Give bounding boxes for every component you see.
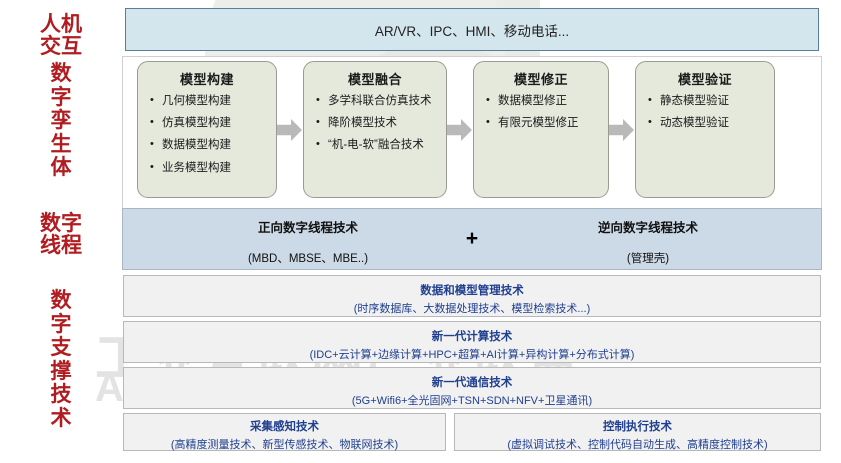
reverse-digital-thread: 逆向数字线程技术 (管理壳) xyxy=(493,217,803,266)
flow-arrow-icon xyxy=(447,118,472,142)
support-row-detail: (虚拟调试技术、控制代码自动生成、高精度控制技术) xyxy=(455,436,820,452)
flow-arrow-icon xyxy=(609,118,634,142)
thread-detail: (MBD、MBSE、MBE..) xyxy=(153,250,463,266)
model-box-list-item: 仿真模型构建 xyxy=(144,117,270,130)
banner-label: AR/VR、IPC、HMI、移动电话... xyxy=(375,20,569,40)
support-row-next-gen-computing: 新一代计算技术 (IDC+云计算+边缘计算+HPC+超算+AI计算+异构计算+分… xyxy=(123,321,821,363)
model-box-list: 数据模型修正有限元模型修正 xyxy=(480,95,602,130)
support-row-next-gen-communication: 新一代通信技术 (5G+Wifi6+全光固网+TSN+SDN+NFV+卫星通讯) xyxy=(123,367,821,409)
support-row-title: 采集感知技术 xyxy=(124,418,445,434)
support-row-title: 新一代通信技术 xyxy=(124,374,820,390)
support-row-detail: (IDC+云计算+边缘计算+HPC+超算+AI计算+异构计算+分布式计算) xyxy=(124,346,820,362)
diagram-content: AR/VR、IPC、HMI、移动电话... 模型构建 几何模型构建仿真模型构建数… xyxy=(122,0,822,463)
support-row-title: 数据和模型管理技术 xyxy=(124,282,820,298)
model-box-list-item: 多学科联合仿真技术 xyxy=(310,95,440,108)
thread-detail: (管理壳) xyxy=(493,250,803,266)
model-box-list-item: 数据模型修正 xyxy=(480,95,602,108)
support-row-detail: (5G+Wifi6+全光固网+TSN+SDN+NFV+卫星通讯) xyxy=(124,392,820,408)
model-box-construction: 模型构建 几何模型构建仿真模型构建数据模型构建业务模型构建 xyxy=(137,61,277,198)
model-box-list-item: 几何模型构建 xyxy=(144,95,270,108)
model-box-list: 静态模型验证动态模型验证 xyxy=(642,95,768,130)
model-box-correction: 模型修正 数据模型修正有限元模型修正 xyxy=(473,61,609,198)
flow-arrow-icon xyxy=(277,118,302,142)
model-box-title: 模型构建 xyxy=(144,69,270,88)
model-box-list-item: 业务模型构建 xyxy=(144,162,270,175)
support-row-title: 控制执行技术 xyxy=(455,418,820,434)
section-label-digital-twin: 数字孪生体 xyxy=(41,62,81,180)
digital-twin-row: 模型构建 几何模型构建仿真模型构建数据模型构建业务模型构建 模型融合 多学科联合… xyxy=(129,61,817,206)
model-box-list-item: 有限元模型修正 xyxy=(480,117,602,130)
section-label-human-machine-interaction: 人机交互 xyxy=(18,14,104,59)
support-row-sensing-acquisition: 采集感知技术 (高精度测量技术、新型传感技术、物联网技术) xyxy=(123,413,446,451)
section-label-digital-thread: 数字线程 xyxy=(18,213,104,258)
model-box-title: 模型融合 xyxy=(310,69,440,88)
model-box-title: 模型验证 xyxy=(642,69,768,88)
section-label-digital-support-tech: 数字支撑技术 xyxy=(41,289,81,430)
support-row-detail: (高精度测量技术、新型传感技术、物联网技术) xyxy=(124,436,445,452)
model-box-fusion: 模型融合 多学科联合仿真技术降阶模型技术“机-电-软”融合技术 xyxy=(303,61,447,198)
support-row-data-model-management: 数据和模型管理技术 (时序数据库、大数据处理技术、模型检索技术...) xyxy=(123,275,821,317)
support-row-title: 新一代计算技术 xyxy=(124,328,820,344)
model-box-list: 多学科联合仿真技术降阶模型技术“机-电-软”融合技术 xyxy=(310,95,440,153)
left-label-column: 人机交互 数字孪生体 数字线程 数字支撑技术 xyxy=(0,0,122,463)
model-box-list-item: “机-电-软”融合技术 xyxy=(310,139,440,152)
model-box-list: 几何模型构建仿真模型构建数据模型构建业务模型构建 xyxy=(144,95,270,175)
model-box-list-item: 降阶模型技术 xyxy=(310,117,440,130)
human-machine-interaction-banner: AR/VR、IPC、HMI、移动电话... xyxy=(125,8,819,51)
model-box-validation: 模型验证 静态模型验证动态模型验证 xyxy=(635,61,775,198)
support-row-detail: (时序数据库、大数据处理技术、模型检索技术...) xyxy=(124,300,820,316)
model-box-list-item: 动态模型验证 xyxy=(642,117,768,130)
model-box-list-item: 数据模型构建 xyxy=(144,139,270,152)
model-box-title: 模型修正 xyxy=(480,69,602,88)
diagram-root: 工业互联网产业联盟 Alliance of Industrial Interne… xyxy=(0,0,841,463)
digital-twin-container: 模型构建 几何模型构建仿真模型构建数据模型构建业务模型构建 模型融合 多学科联合… xyxy=(122,56,822,209)
digital-thread-container: 正向数字线程技术 (MBD、MBSE、MBE..) + 逆向数字线程技术 (管理… xyxy=(122,208,822,270)
model-box-list-item: 静态模型验证 xyxy=(642,95,768,108)
thread-title: 逆向数字线程技术 xyxy=(493,217,803,236)
support-row-control-execution: 控制执行技术 (虚拟调试技术、控制代码自动生成、高精度控制技术) xyxy=(454,413,821,451)
